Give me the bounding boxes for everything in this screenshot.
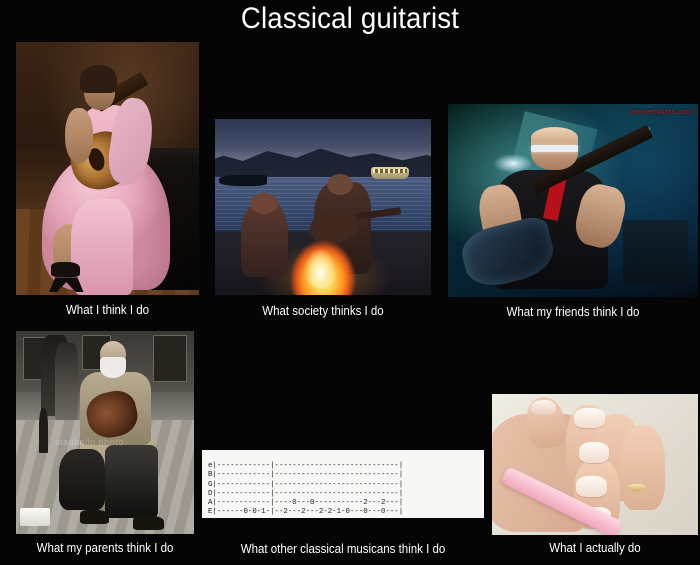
thumb-nail xyxy=(531,400,556,416)
hair xyxy=(80,65,117,93)
panel-what-society-thinks-i-do xyxy=(215,119,431,295)
caption-what-i-actually-do: What I actually do xyxy=(500,541,690,555)
busker-shoe xyxy=(80,510,108,524)
caption-what-society-thinks-i-do: What society thinks I do xyxy=(224,304,423,318)
watermark-photo-credit: madbello photo xyxy=(55,437,124,447)
meme-image: Classical guitarist What I think I do xyxy=(0,0,700,565)
panel-what-i-think-i-do xyxy=(16,42,199,295)
lit-ferry xyxy=(371,167,410,179)
campfire-core xyxy=(301,239,340,288)
backpack-seat xyxy=(105,445,158,518)
finger xyxy=(620,425,665,510)
listener-head xyxy=(250,193,278,214)
panel-what-my-friends-think-i-do: concertshots.com xyxy=(448,104,698,297)
panel-what-i-actually-do xyxy=(492,394,698,535)
shoe xyxy=(51,262,80,277)
panel-what-my-parents-think-i-do: madbello photo xyxy=(16,331,194,534)
pedestrian xyxy=(55,343,78,420)
beached-kayak xyxy=(219,175,267,186)
panel-what-other-classical-musicans-think-i-do: e|------------|-------------------------… xyxy=(202,450,484,518)
guitarist-head xyxy=(327,174,353,195)
tip-container xyxy=(20,508,50,526)
busker-beard xyxy=(100,357,127,377)
meme-title: Classical guitarist xyxy=(28,2,672,36)
stage-amp xyxy=(623,220,688,286)
finger-nail xyxy=(576,476,607,497)
left-arm xyxy=(65,108,92,164)
caption-what-other-classical-musicans-think-i-do: What other classical musicans think I do xyxy=(213,542,472,556)
caption-what-my-parents-think-i-do: What my parents think I do xyxy=(23,541,187,555)
guitar-tablature: e|------------|-------------------------… xyxy=(208,462,403,517)
caption-what-i-think-i-do: What I think I do xyxy=(23,303,191,317)
sunglasses xyxy=(531,145,579,153)
shop-window xyxy=(153,335,187,382)
duffel-bag xyxy=(59,449,105,510)
finger-nail xyxy=(574,408,605,428)
finger-nail xyxy=(579,442,610,463)
gown-drape xyxy=(71,199,133,295)
watermark-concertshots: concertshots.com xyxy=(629,107,693,116)
street-bollard xyxy=(39,408,48,453)
busker-shoe xyxy=(133,516,163,530)
caption-what-my-friends-think-i-do: What my friends think I do xyxy=(458,305,688,319)
